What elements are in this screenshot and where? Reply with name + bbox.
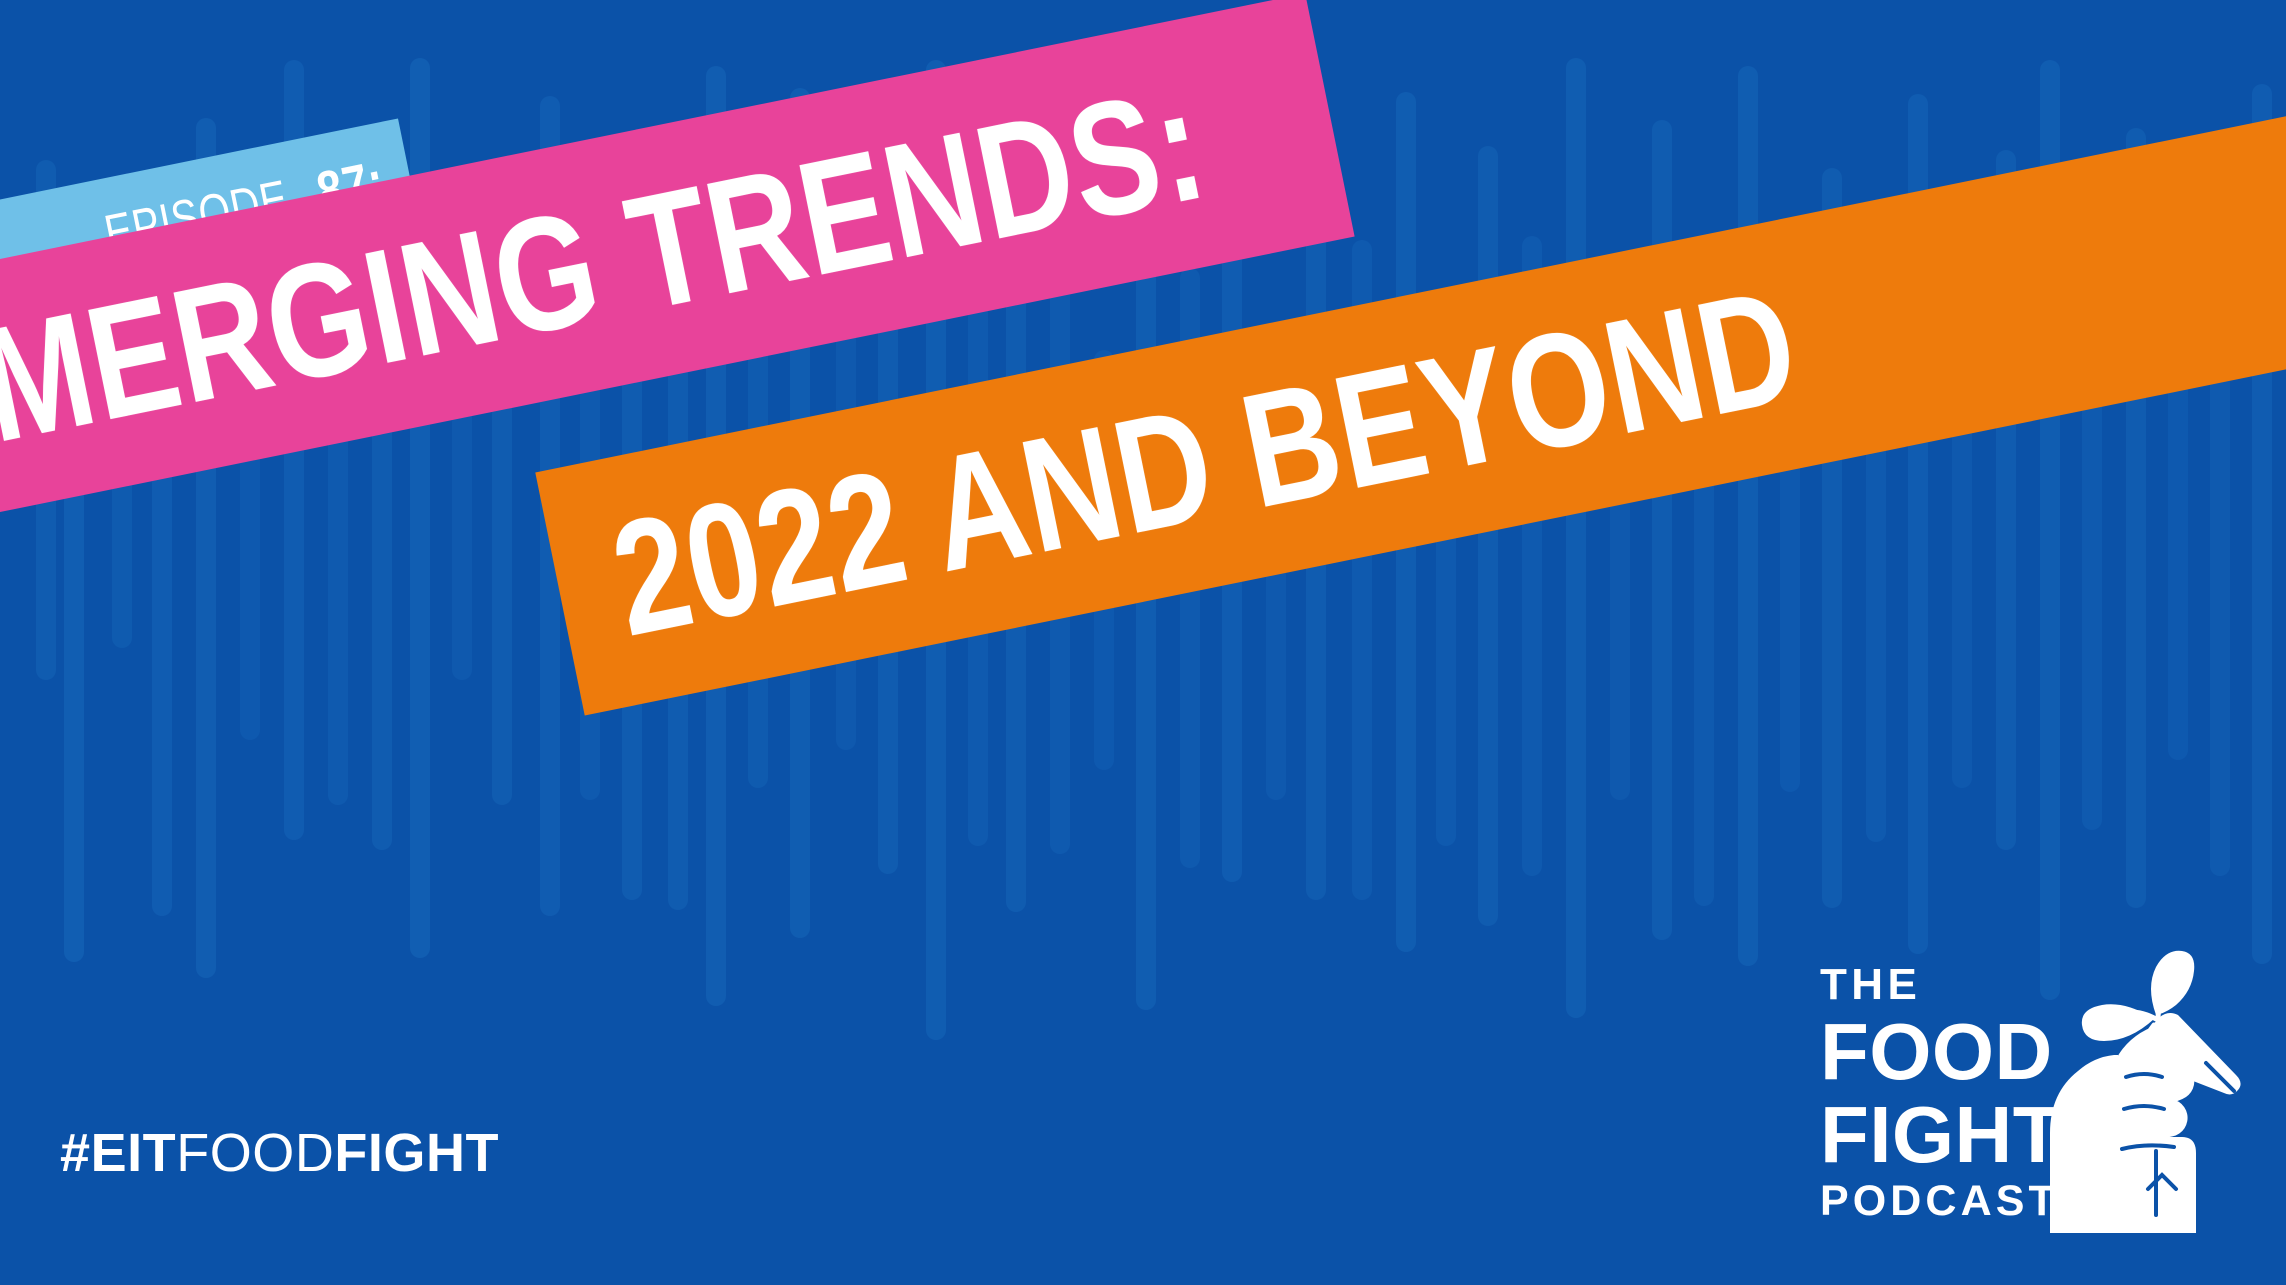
hashtag-part-eit: #EIT <box>60 1122 176 1184</box>
waveform-bar <box>1478 146 1498 926</box>
waveform-bar <box>1566 58 1586 1018</box>
podcast-cover-art: EPISODE 87: EMERGING TRENDS: 2022 AND BE… <box>0 0 2286 1285</box>
hashtag-part-food: FOOD <box>176 1122 334 1184</box>
waveform-bar <box>2168 330 2188 760</box>
hashtag-part-fight: FIGHT <box>334 1122 499 1184</box>
waveform-bar <box>1738 66 1758 966</box>
fist-holding-carrot-icon <box>2006 943 2246 1233</box>
hashtag: #EIT FOOD FIGHT <box>60 1122 499 1184</box>
podcast-logo: THE FOOD FIGHT PODCAST <box>1820 927 2240 1227</box>
